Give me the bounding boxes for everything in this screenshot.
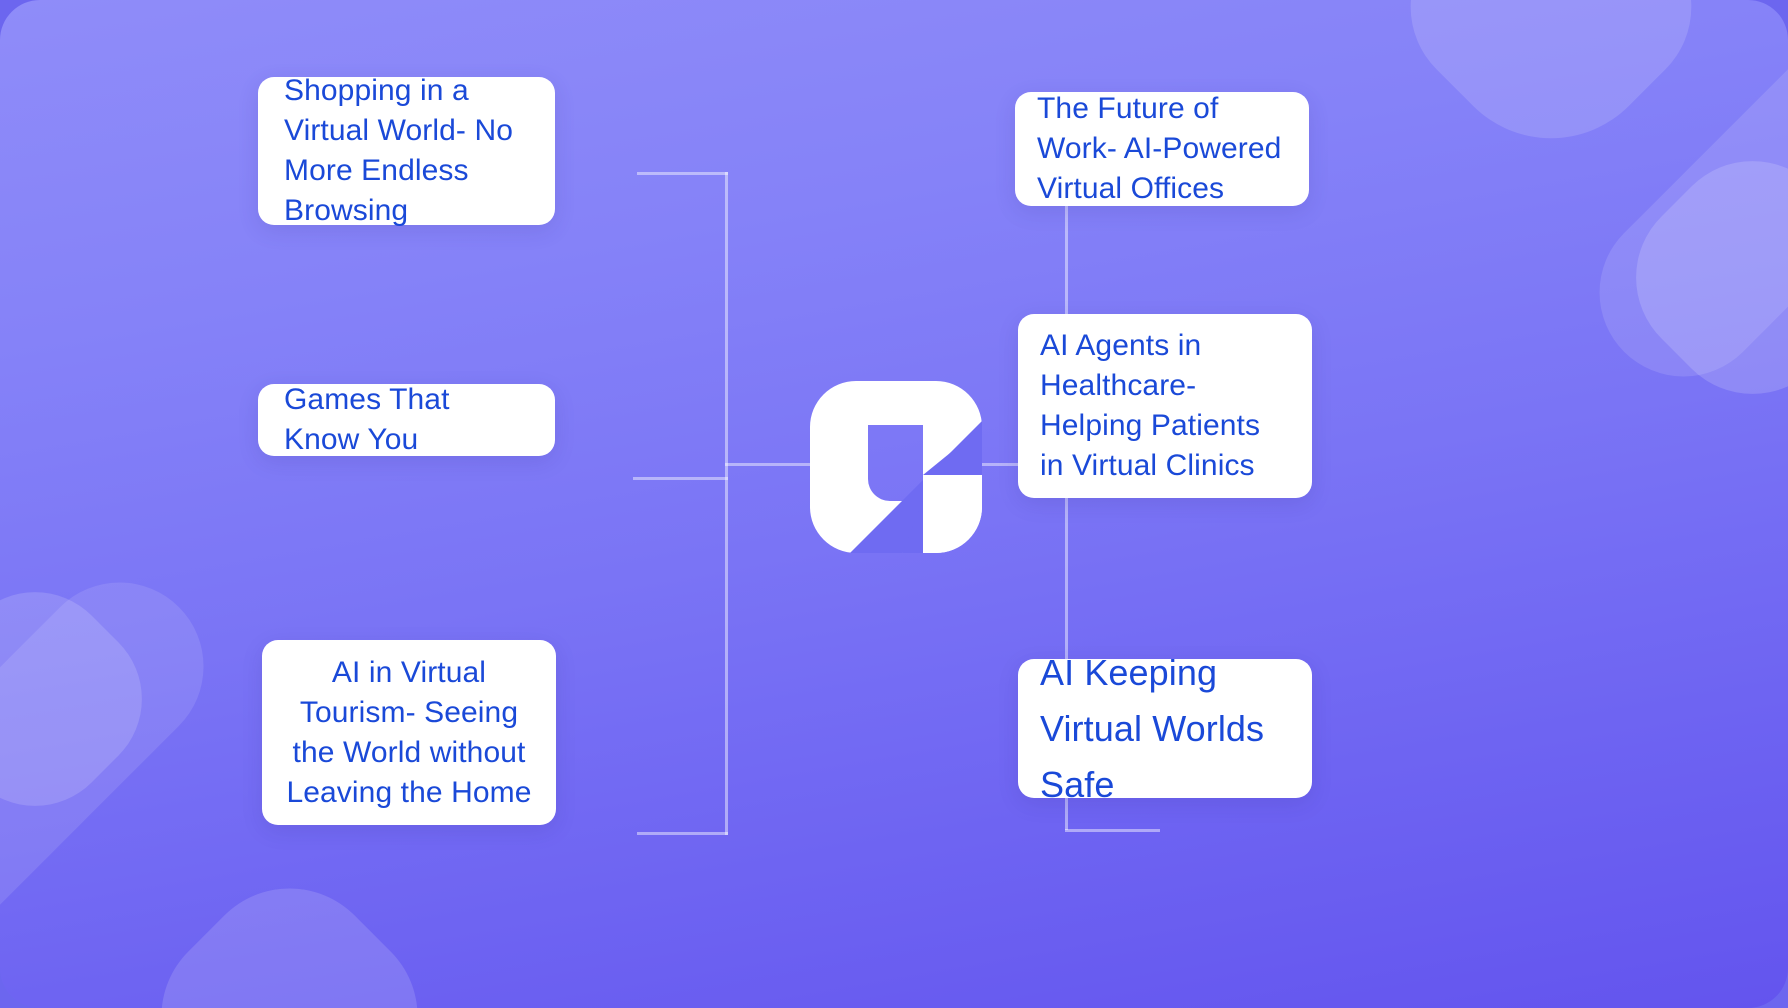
card-healthcare[interactable]: AI Agents in Healthcare- Helping Patient… — [1018, 314, 1312, 498]
connector-left-top — [637, 172, 728, 175]
mindmap-canvas: Shopping in a Virtual World- No More End… — [0, 0, 1788, 1008]
card-tourism-label: AI in Virtual Tourism- Seeing the World … — [286, 653, 532, 813]
connector-left-middle — [633, 477, 728, 480]
connector-spine-left — [725, 172, 728, 835]
connector-left-to-center — [725, 463, 821, 466]
connector-left-bottom — [637, 832, 728, 835]
connector-right-bottom — [1065, 829, 1160, 832]
decorative-blob-right-edge — [1600, 125, 1788, 429]
card-future-of-work[interactable]: The Future of Work- AI-Powered Virtual O… — [1015, 92, 1309, 206]
card-shopping[interactable]: Shopping in a Virtual World- No More End… — [258, 77, 555, 225]
card-safety-label: AI Keeping Virtual Worlds Safe — [1040, 645, 1290, 813]
card-games-label: Games That Know You — [284, 380, 529, 460]
decorative-blob-top-right — [1374, 0, 1728, 184]
card-future-of-work-label: The Future of Work- AI-Powered Virtual O… — [1037, 89, 1287, 209]
brand-logo-mark — [810, 381, 982, 553]
decorative-blob-bottom-left — [0, 559, 175, 839]
decorative-stripe-bottom-left — [0, 548, 238, 1008]
card-healthcare-label: AI Agents in Healthcare- Helping Patient… — [1040, 326, 1290, 486]
card-shopping-label: Shopping in a Virtual World- No More End… — [284, 71, 529, 231]
card-safety[interactable]: AI Keeping Virtual Worlds Safe — [1018, 659, 1312, 798]
decorative-blob-bottom-center — [123, 850, 455, 1008]
card-games[interactable]: Games That Know You — [258, 384, 555, 456]
card-tourism[interactable]: AI in Virtual Tourism- Seeing the World … — [262, 640, 556, 825]
decorative-stripe-top-right — [1565, 0, 1788, 411]
